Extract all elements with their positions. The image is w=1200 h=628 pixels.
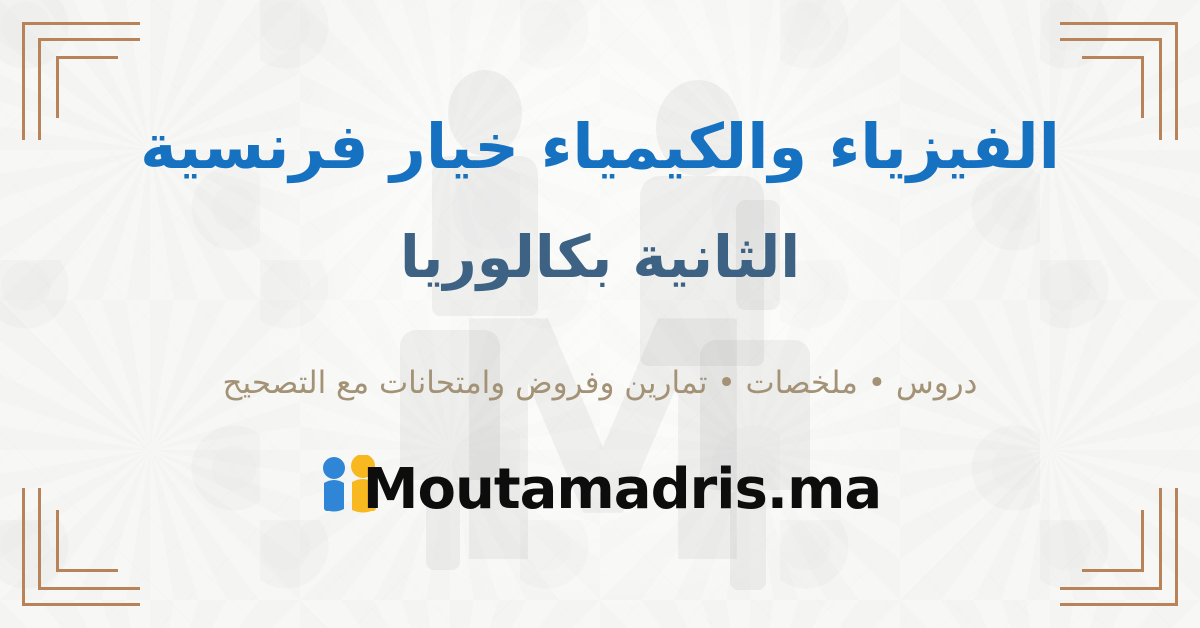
site-logo: Moutamadris.ma	[319, 455, 881, 525]
poster-canvas: M الفيزياء والكيمياء خيار فرنسية الثانية…	[0, 0, 1200, 628]
subtitle-features: دروس • ملخصات • تمارين وفروض وامتحانات م…	[90, 363, 1110, 403]
page-title-line-2: الثانية بكالوريا	[90, 223, 1110, 293]
site-logo-text: Moutamadris.ma	[363, 462, 881, 518]
poster-content: الفيزياء والكيمياء خيار فرنسية الثانية ب…	[0, 0, 1200, 628]
page-title-line-1: الفيزياء والكيمياء خيار فرنسية	[90, 112, 1110, 181]
